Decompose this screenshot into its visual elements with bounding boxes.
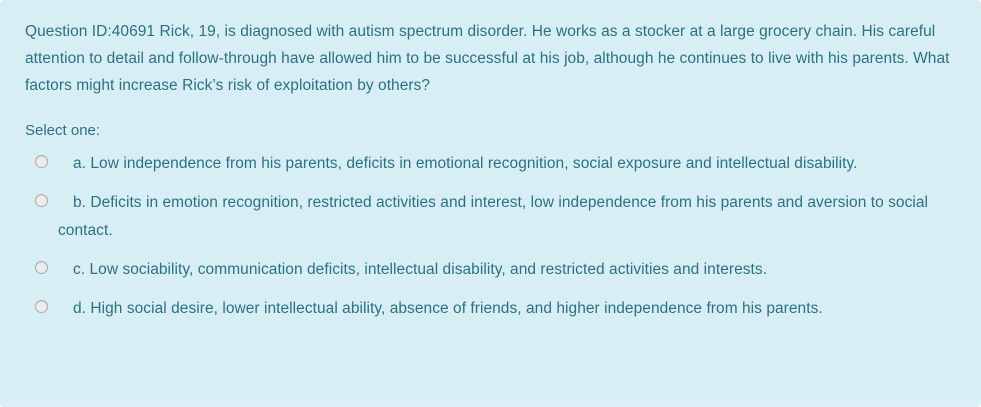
- answer-option-d[interactable]: d. High social desire, lower intellectua…: [25, 295, 957, 323]
- radio-button-d[interactable]: [35, 300, 48, 313]
- radio-button-a[interactable]: [35, 155, 48, 168]
- radio-button-b[interactable]: [35, 194, 48, 207]
- quiz-question-card: Question ID:40691 Rick, 19, is diagnosed…: [0, 0, 981, 407]
- answer-option-c-label: c. Low sociability, communication defici…: [58, 256, 957, 284]
- answer-option-d-label: d. High social desire, lower intellectua…: [58, 295, 957, 323]
- answer-option-c[interactable]: c. Low sociability, communication defici…: [25, 256, 957, 284]
- radio-button-c[interactable]: [35, 261, 48, 274]
- answer-option-b[interactable]: b. Deficits in emotion recognition, rest…: [25, 189, 957, 245]
- answer-option-a[interactable]: a. Low independence from his parents, de…: [25, 150, 957, 178]
- answer-option-b-label: b. Deficits in emotion recognition, rest…: [58, 189, 957, 245]
- answer-option-a-label: a. Low independence from his parents, de…: [58, 150, 957, 178]
- select-one-label: Select one:: [25, 120, 957, 142]
- card-footer-band: [0, 401, 981, 407]
- question-text: Question ID:40691 Rick, 19, is diagnosed…: [25, 18, 957, 99]
- answer-options-list: a. Low independence from his parents, de…: [25, 150, 957, 323]
- quiz-content: Question ID:40691 Rick, 19, is diagnosed…: [0, 0, 981, 323]
